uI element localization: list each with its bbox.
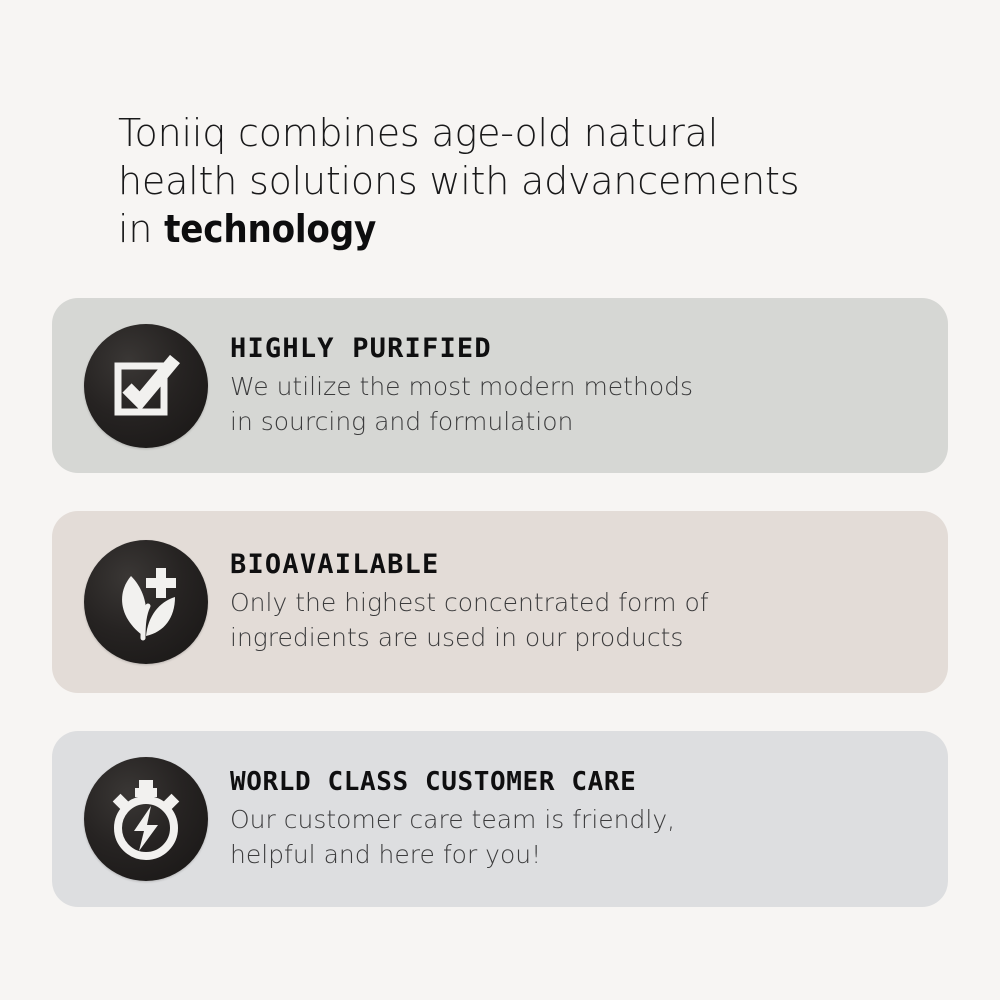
headline-line-2: health solutions with advancements — [118, 159, 799, 203]
headline-emphasis: technology — [164, 207, 376, 251]
feature-card-description: Only the highest concentrated form of in… — [230, 585, 920, 655]
leaf-plus-icon — [84, 540, 208, 664]
feature-card-text: WORLD CLASS CUSTOMER CARE Our customer c… — [230, 766, 948, 872]
feature-card-description: Our customer care team is friendly, help… — [230, 802, 920, 872]
headline-line-3-prefix: in — [118, 207, 164, 251]
feature-card-customer-care: WORLD CLASS CUSTOMER CARE Our customer c… — [52, 731, 948, 907]
headline-line-1: Toniiq combines age-old natural — [118, 111, 718, 155]
feature-card-bioavailable: BIOAVAILABLE Only the highest concentrat… — [52, 511, 948, 693]
feature-card-title: WORLD CLASS CUSTOMER CARE — [230, 766, 920, 798]
stopwatch-bolt-icon — [84, 757, 208, 881]
feature-card-title: HIGHLY PURIFIED — [230, 333, 920, 365]
feature-card-list: HIGHLY PURIFIED We utilize the most mode… — [52, 298, 948, 945]
feature-card-text: BIOAVAILABLE Only the highest concentrat… — [230, 549, 948, 655]
feature-card-description: We utilize the most modern methods in so… — [230, 369, 920, 439]
promo-infographic: Toniiq combines age-old natural health s… — [0, 0, 1000, 1000]
checkbox-check-icon — [84, 324, 208, 448]
feature-card-title: BIOAVAILABLE — [230, 549, 920, 581]
feature-card-highly-purified: HIGHLY PURIFIED We utilize the most mode… — [52, 298, 948, 473]
feature-card-text: HIGHLY PURIFIED We utilize the most mode… — [230, 333, 948, 439]
page-headline: Toniiq combines age-old natural health s… — [118, 109, 878, 253]
